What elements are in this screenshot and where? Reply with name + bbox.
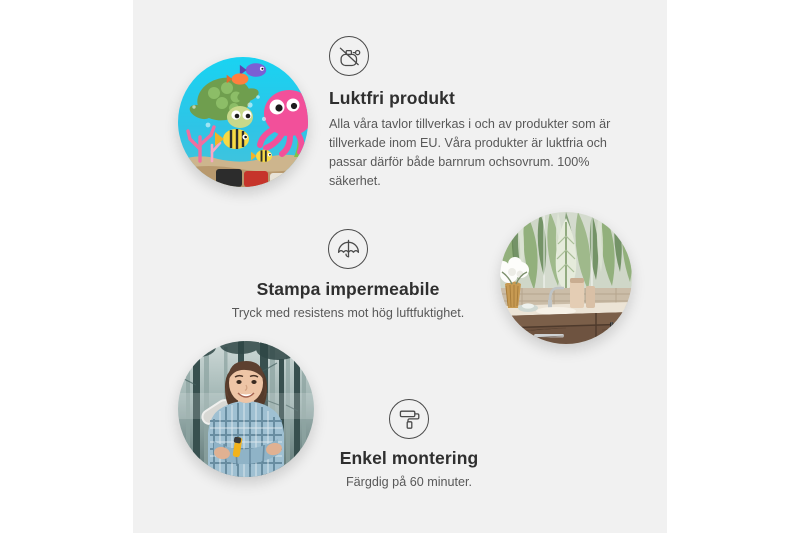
feature-title: Luktfri produkt: [329, 88, 629, 109]
umbrella-icon: [328, 229, 368, 269]
feature-waterproof-print: Stampa impermeabile Tryck med resistens …: [198, 229, 498, 323]
feature-easy-mounting: Enkel montering Färgdig på 60 minuter.: [284, 399, 534, 492]
feature-body: Alla våra tavlor tillverkas i och av pro…: [329, 115, 619, 192]
promo-infographic: Luktfri produkt Alla våra tavlor tillver…: [0, 0, 800, 533]
feature-title: Stampa impermeabile: [198, 279, 498, 300]
feature-odor-free: Luktfri produkt Alla våra tavlor tillver…: [329, 36, 629, 192]
no-perfume-bottle-icon: [329, 36, 369, 76]
photo-bathroom-vanity: [500, 212, 632, 344]
feature-body: Tryck med resistens mot hög luftfuktighe…: [198, 304, 498, 323]
photo-underwater-scene: [178, 57, 308, 187]
paint-roller-icon: [389, 399, 429, 439]
feature-title: Enkel montering: [284, 448, 534, 469]
feature-body: Färgdig på 60 minuter.: [284, 473, 534, 492]
